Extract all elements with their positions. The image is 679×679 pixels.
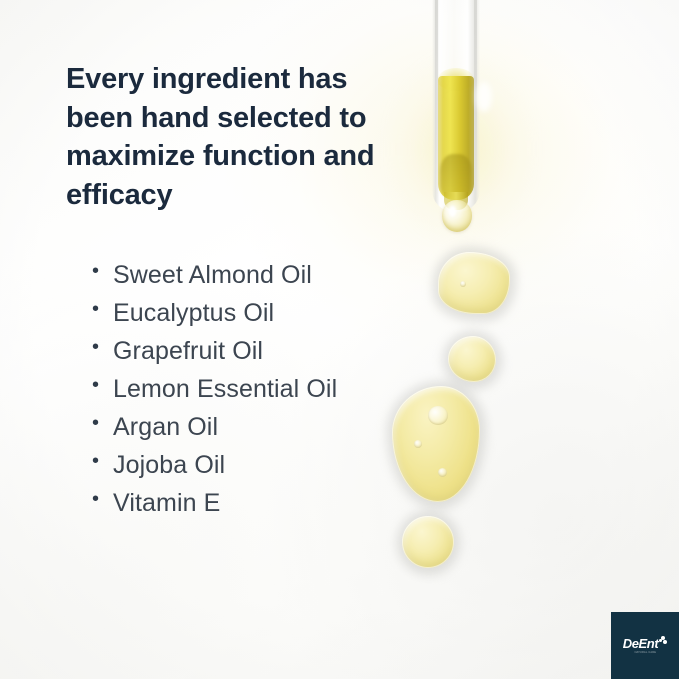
list-item: Lemon Essential Oil: [92, 370, 392, 408]
brand-logo: DeEnt: [623, 637, 668, 650]
brand-tagline: NATURAL CARE: [634, 652, 656, 654]
headline-text: Every ingredient has been hand selected …: [66, 60, 396, 214]
droplet-rim: [448, 336, 496, 382]
droplet-rim: [438, 252, 510, 314]
product-graphic: Every ingredient has been hand selected …: [0, 0, 679, 679]
oil-droplet-irregular: [438, 252, 510, 314]
list-item: Argan Oil: [92, 408, 392, 446]
droplet-rim: [402, 516, 454, 568]
oil-droplet-bottom-round: [402, 516, 454, 568]
list-item: Vitamin E: [92, 484, 392, 522]
brand-badge: DeEnt NATURAL CARE: [611, 612, 679, 679]
list-item: Sweet Almond Oil: [92, 256, 392, 294]
list-item: Jojoba Oil: [92, 446, 392, 484]
droplet-bubble-large: [428, 406, 448, 425]
droplet-bubble: [460, 281, 466, 287]
list-item: Grapefruit Oil: [92, 332, 392, 370]
droplet-bubble: [438, 468, 447, 477]
oil-droplet-small-round: [448, 336, 496, 382]
leaf-sparkle-icon: [659, 636, 667, 645]
droplet-bubble: [414, 440, 422, 448]
list-item: Eucalyptus Oil: [92, 294, 392, 332]
brand-name: DeEnt: [623, 637, 659, 650]
ingredient-list: Sweet Almond Oil Eucalyptus Oil Grapefru…: [92, 256, 392, 522]
